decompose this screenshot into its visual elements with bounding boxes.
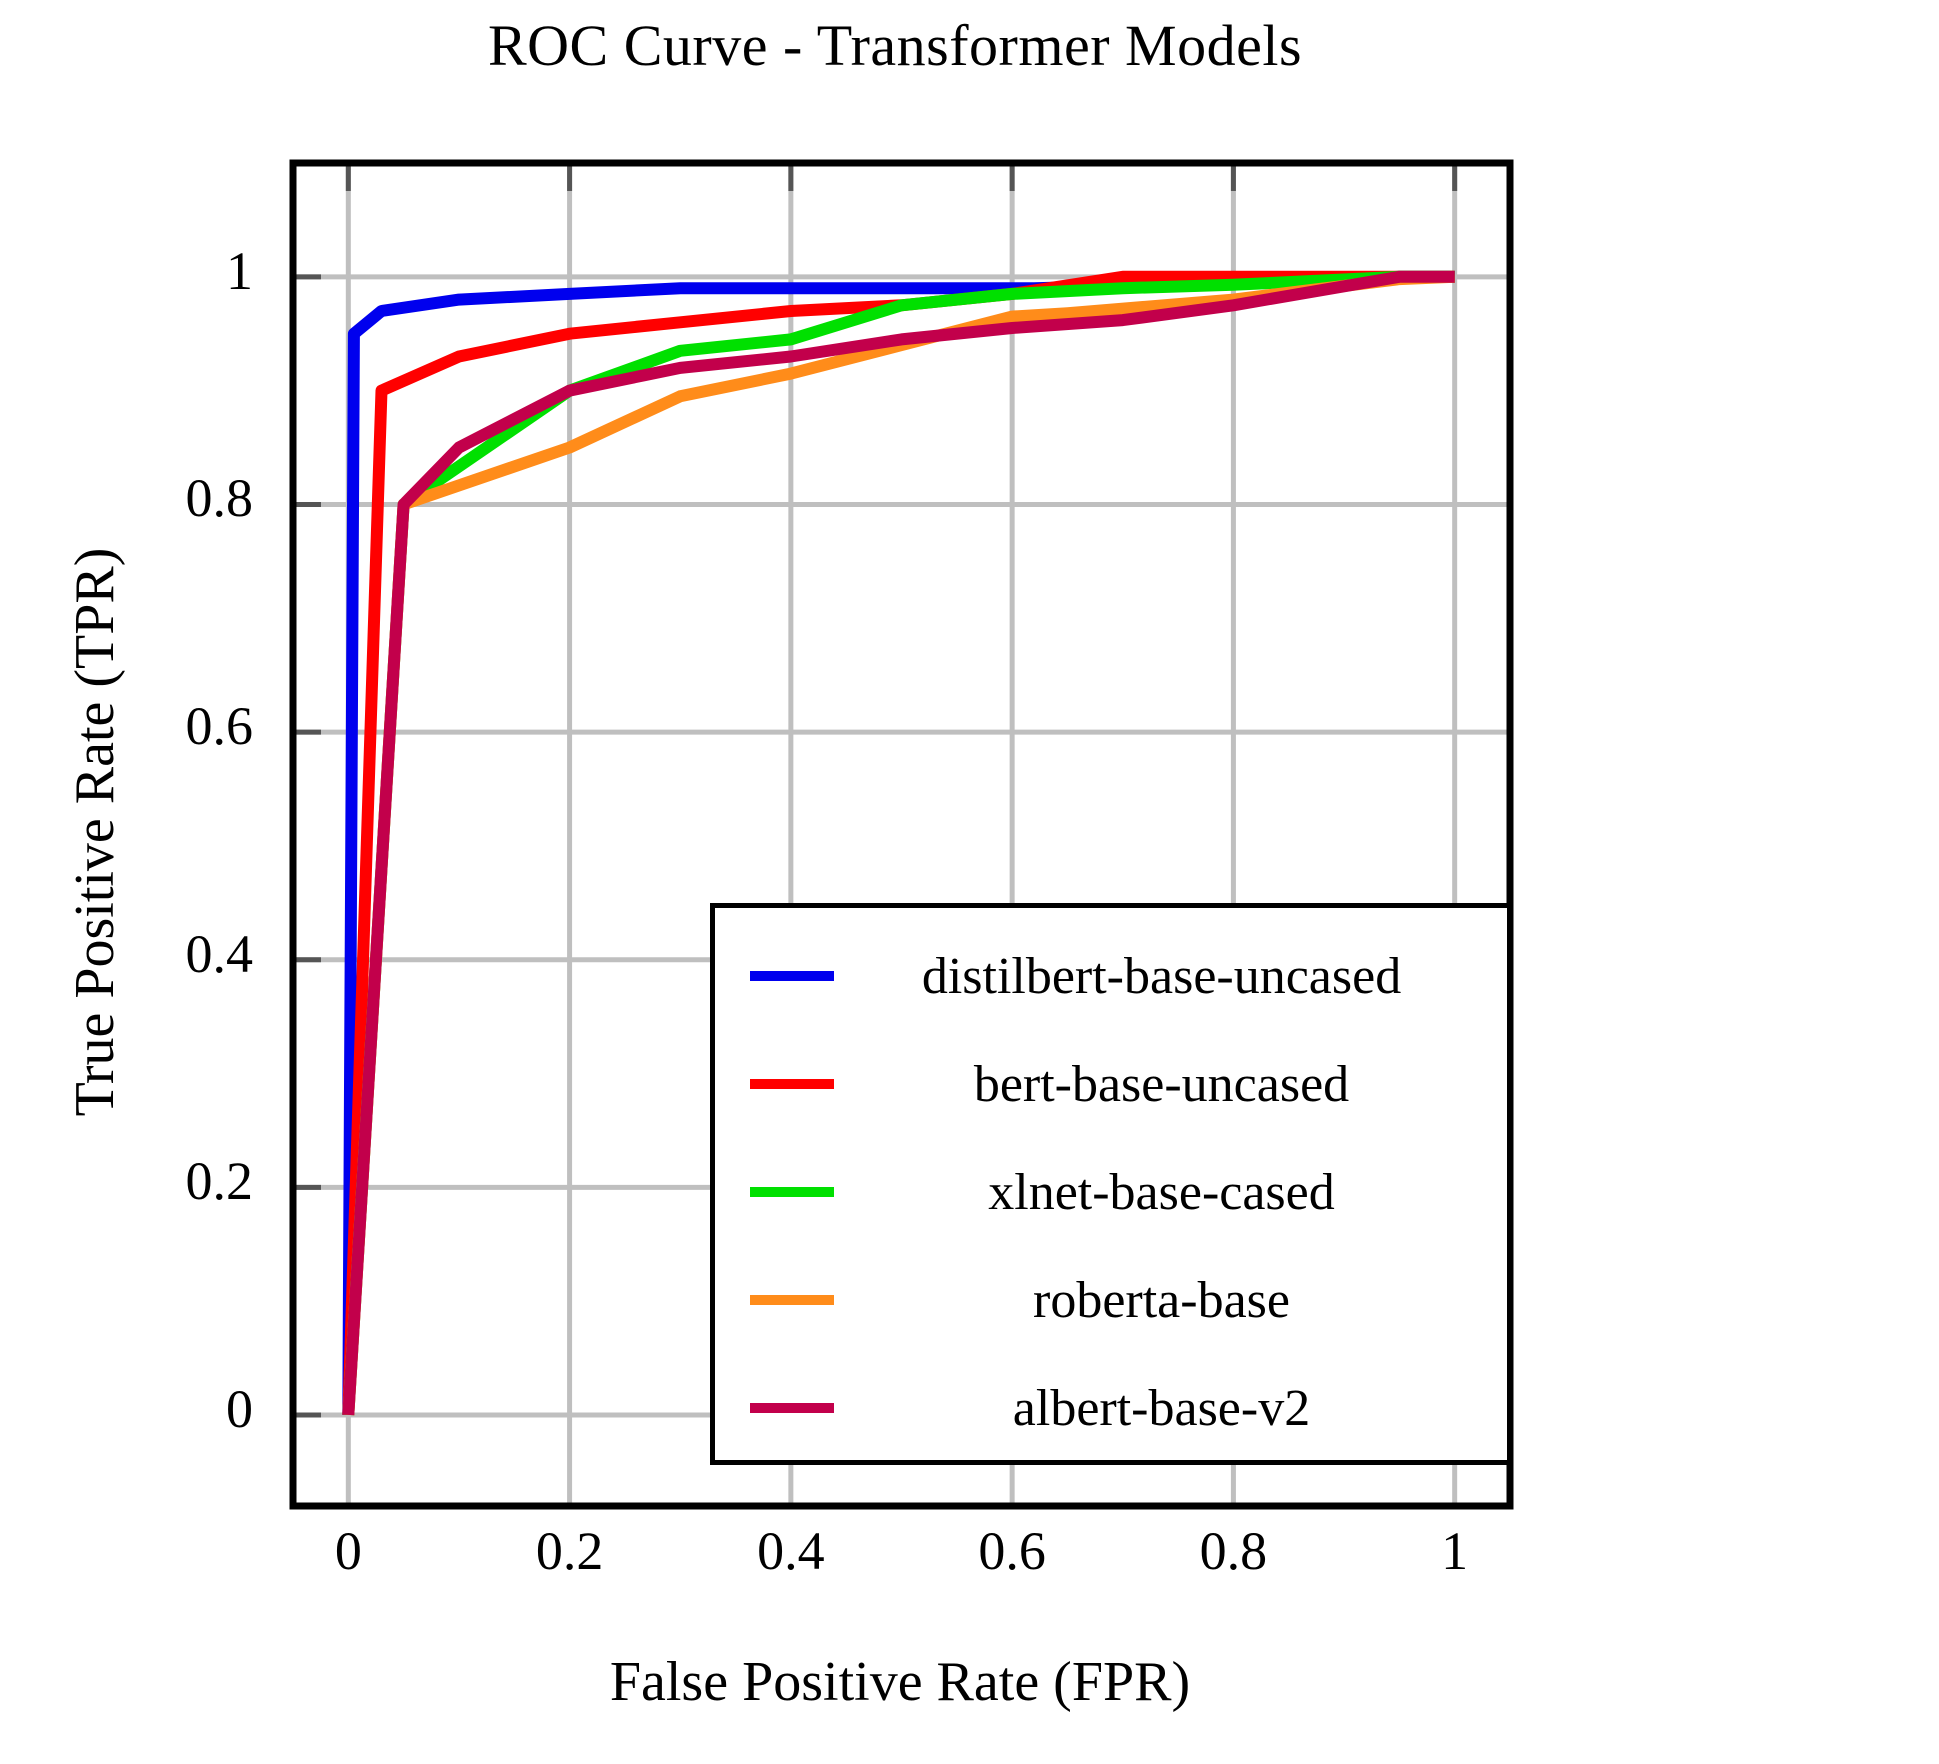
y-tick-label: 0.6 <box>113 695 253 757</box>
x-tick-label: 1 <box>1395 1520 1515 1582</box>
legend-item-label: roberta-base <box>834 1271 1507 1330</box>
x-tick-label: 0.6 <box>952 1520 1072 1582</box>
legend-color-swatch <box>750 1079 834 1089</box>
y-tick-label: 0.8 <box>113 467 253 529</box>
legend-color-swatch <box>750 1403 834 1413</box>
y-tick-label: 1 <box>113 240 253 302</box>
y-axis-label: True Positive Rate (TPR) <box>63 282 127 1382</box>
legend-item-label: albert-base-v2 <box>834 1379 1507 1438</box>
x-tick-label: 0 <box>288 1520 408 1582</box>
legend-color-swatch <box>750 1295 834 1305</box>
x-axis-label: False Positive Rate (FPR) <box>0 1650 1800 1714</box>
legend-item-label: bert-base-uncased <box>834 1055 1507 1114</box>
legend-item-xlnet-base-cased[interactable]: xlnet-base-cased <box>715 1136 1507 1248</box>
legend-color-swatch <box>750 971 834 981</box>
legend-item-label: xlnet-base-cased <box>834 1163 1507 1222</box>
legend-color-swatch <box>750 1187 834 1197</box>
plot-area <box>0 0 1939 1764</box>
y-tick-label: 0 <box>113 1378 253 1440</box>
legend-item-roberta-base[interactable]: roberta-base <box>715 1244 1507 1356</box>
roc-chart-figure: ROC Curve - Transformer Models 00.20.40.… <box>0 0 1939 1764</box>
legend-item-distilbert-base-uncased[interactable]: distilbert-base-uncased <box>715 920 1507 1032</box>
legend[interactable]: distilbert-base-uncasedbert-base-uncased… <box>710 903 1512 1465</box>
legend-item-label: distilbert-base-uncased <box>834 947 1507 1006</box>
y-tick-label: 0.4 <box>113 923 253 985</box>
y-tick-label: 0.2 <box>113 1150 253 1212</box>
legend-item-bert-base-uncased[interactable]: bert-base-uncased <box>715 1028 1507 1140</box>
legend-item-albert-base-v2[interactable]: albert-base-v2 <box>715 1352 1507 1464</box>
x-tick-label: 0.8 <box>1173 1520 1293 1582</box>
x-tick-label: 0.4 <box>731 1520 851 1582</box>
x-tick-label: 0.2 <box>510 1520 630 1582</box>
